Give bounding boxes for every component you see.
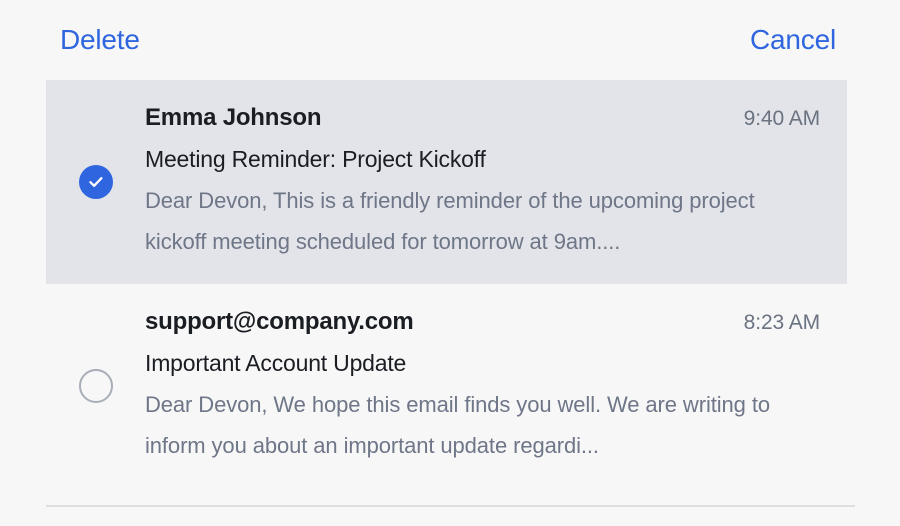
check-circle-filled-icon[interactable] <box>79 165 113 199</box>
email-selection-screen: Delete Cancel Emma Johnson 9:40 AM Meeti… <box>0 0 900 526</box>
email-list-item[interactable]: support@company.com 8:23 AM Important Ac… <box>46 284 847 488</box>
email-subject: Important Account Update <box>145 347 820 380</box>
selection-checkbox-cell <box>46 80 145 284</box>
email-timestamp: 9:40 AM <box>744 105 820 134</box>
email-content: support@company.com 8:23 AM Important Ac… <box>145 305 847 467</box>
email-sender: Emma Johnson <box>145 101 321 134</box>
email-list-item[interactable]: Emma Johnson 9:40 AM Meeting Reminder: P… <box>46 80 847 284</box>
circle-outline-icon[interactable] <box>79 369 113 403</box>
email-sender: support@company.com <box>145 305 414 338</box>
email-timestamp: 8:23 AM <box>744 309 820 338</box>
email-header-line: Emma Johnson 9:40 AM <box>145 101 820 134</box>
email-preview: Dear Devon, This is a friendly reminder … <box>145 180 817 264</box>
selection-checkbox-cell <box>46 284 145 488</box>
email-list: Emma Johnson 9:40 AM Meeting Reminder: P… <box>0 80 900 488</box>
list-divider <box>46 505 855 507</box>
delete-button[interactable]: Delete <box>60 26 140 54</box>
email-preview: Dear Devon, We hope this email finds you… <box>145 384 817 468</box>
email-header-line: support@company.com 8:23 AM <box>145 305 820 338</box>
cancel-button[interactable]: Cancel <box>750 26 836 54</box>
email-content: Emma Johnson 9:40 AM Meeting Reminder: P… <box>145 101 847 263</box>
email-subject: Meeting Reminder: Project Kickoff <box>145 143 820 176</box>
selection-action-bar: Delete Cancel <box>0 0 900 80</box>
